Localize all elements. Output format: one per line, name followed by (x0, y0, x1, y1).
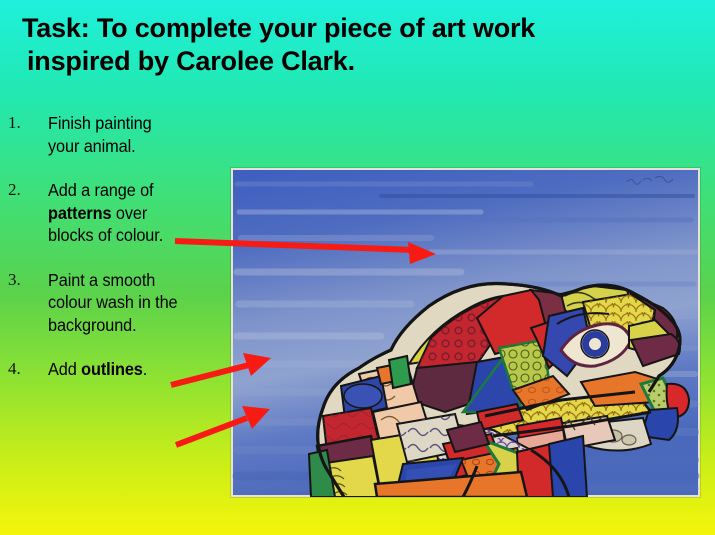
task-number-1: 1. (8, 112, 21, 134)
title-line-1: Task: To complete your piece of art work (22, 12, 692, 45)
task-text-1: Finish paintingyour animal. (48, 112, 215, 157)
slide-canvas: Task: To complete your piece of art work… (0, 0, 715, 535)
task-item-4: 4. Add outlines. (0, 358, 228, 381)
title-line-2: inspired by Carolee Clark. (22, 45, 692, 78)
task-number-4: 4. (8, 358, 21, 380)
task-number-3: 3. (8, 269, 21, 291)
task-number-2: 2. (8, 179, 21, 201)
page-title: Task: To complete your piece of art work… (22, 12, 692, 78)
task-text-2: Add a range ofpatterns overblocks of col… (48, 179, 215, 247)
task-list: 1. Finish paintingyour animal. 2. Add a … (0, 112, 228, 403)
task-item-3: 3. Paint a smoothcolour wash in thebackg… (0, 269, 228, 337)
task-item-1: 1. Finish paintingyour animal. (0, 112, 228, 157)
artwork-image (231, 168, 700, 497)
task-text-3: Paint a smoothcolour wash in thebackgrou… (48, 269, 215, 337)
task-text-4: Add outlines. (48, 358, 215, 381)
task-item-2: 2. Add a range ofpatterns overblocks of … (0, 179, 228, 247)
